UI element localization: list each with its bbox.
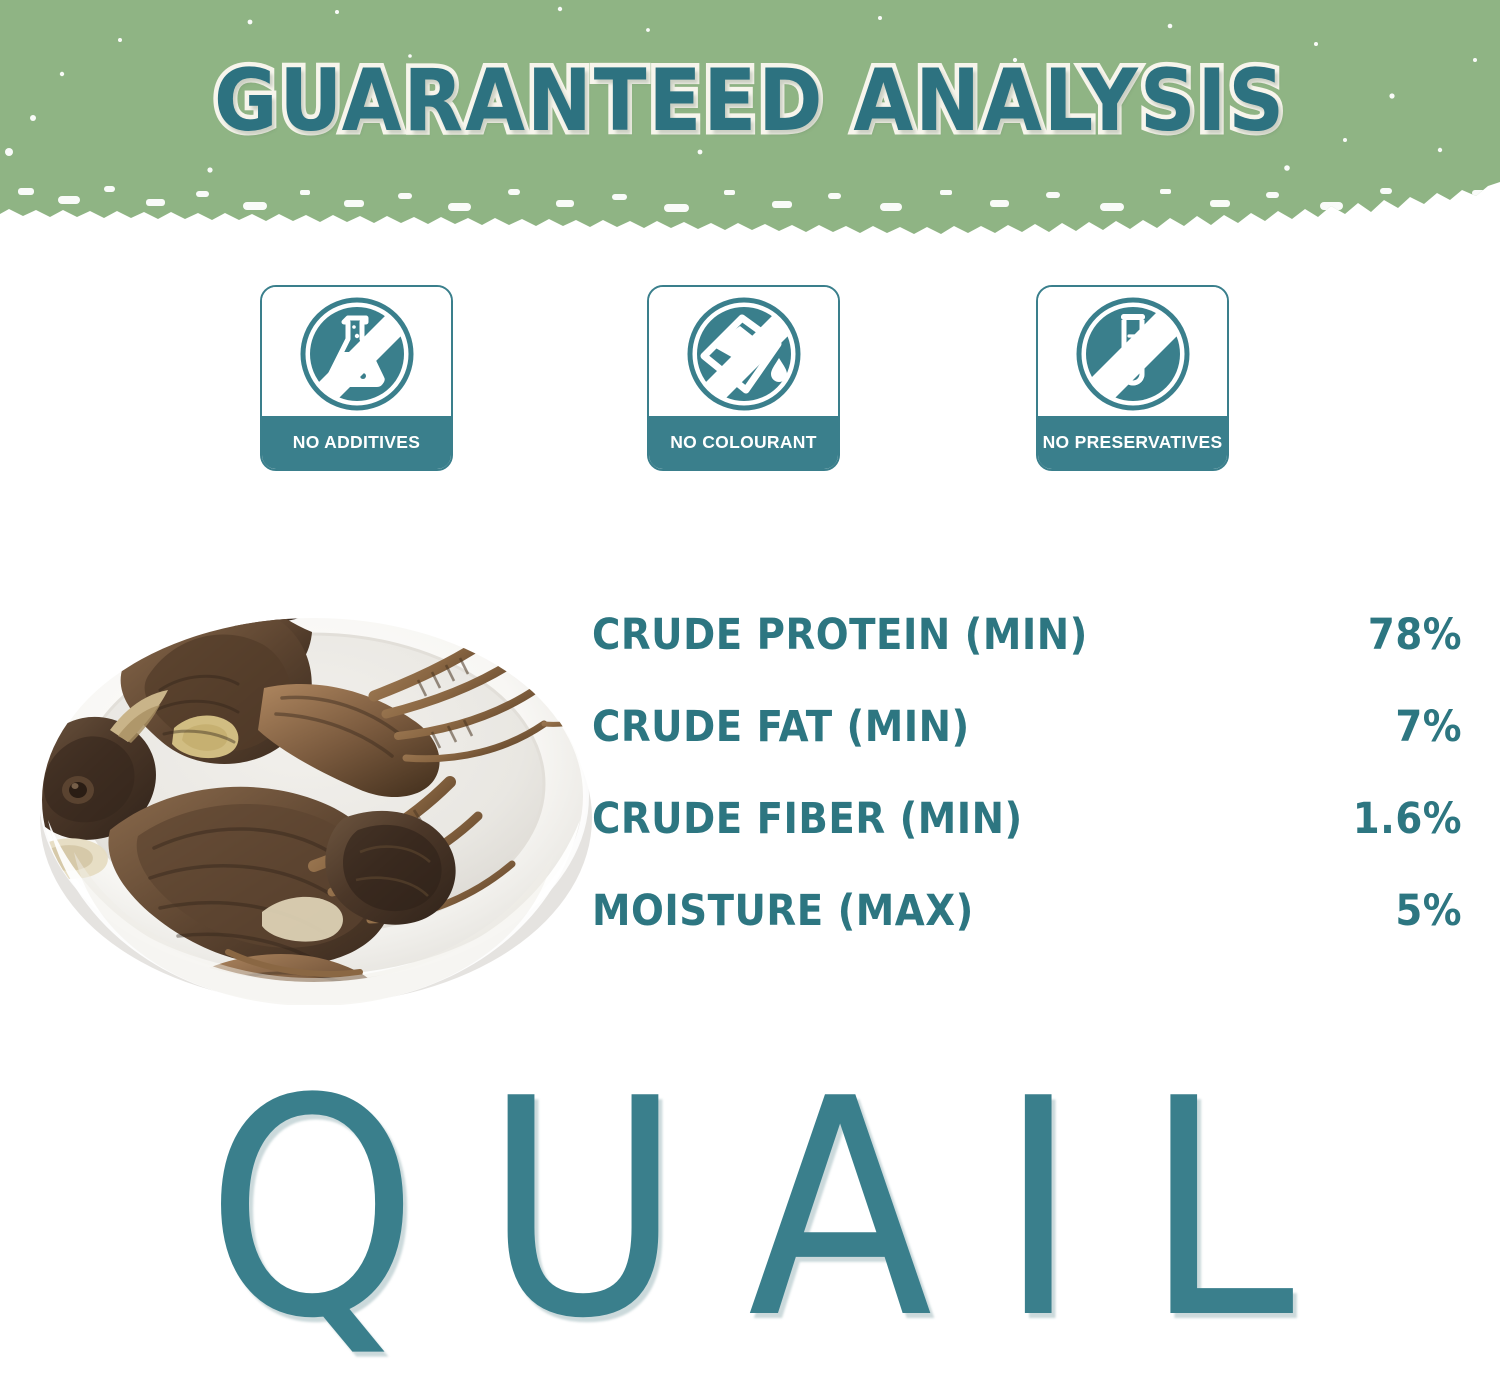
header-band: GUARANTEED ANALYSIS <box>0 0 1500 236</box>
analysis-row: CRUDE FAT (MIN) 7% <box>592 702 1462 794</box>
analysis-value: 1.6% <box>1353 794 1462 844</box>
analysis-label: MOISTURE (MAX) <box>592 886 974 936</box>
analysis-label: CRUDE PROTEIN (MIN) <box>592 610 1088 660</box>
badge-icon-area <box>262 287 451 420</box>
no-preservatives-test-tube-icon <box>1071 292 1195 416</box>
page-title: GUARANTEED ANALYSIS <box>0 58 1500 144</box>
analysis-row: CRUDE FIBER (MIN) 1.6% <box>592 794 1462 886</box>
badge-label-bar: NO ADDITIVES <box>262 416 451 469</box>
badge-label: NO COLOURANT <box>670 432 817 453</box>
badge-no-additives: NO ADDITIVES <box>260 285 453 471</box>
product-photo-dried-quail-in-bowl <box>14 500 614 1005</box>
no-additives-flask-icon <box>295 292 419 416</box>
product-name-wordmark: QUAIL <box>0 1070 1500 1350</box>
badge-no-colourant: NO COLOURANT <box>647 285 840 471</box>
badge-no-preservatives: NO PRESERVATIVES <box>1036 285 1229 471</box>
no-colourant-paint-icon <box>682 292 806 416</box>
analysis-value: 5% <box>1395 886 1462 936</box>
badge-icon-area <box>649 287 838 420</box>
analysis-label: CRUDE FIBER (MIN) <box>592 794 1023 844</box>
analysis-row: CRUDE PROTEIN (MIN) 78% <box>592 610 1462 702</box>
badge-label: NO ADDITIVES <box>293 432 420 453</box>
badge-label-bar: NO PRESERVATIVES <box>1038 416 1227 469</box>
analysis-row: MOISTURE (MAX) 5% <box>592 886 1462 978</box>
badge-icon-area <box>1038 287 1227 420</box>
badge-label: NO PRESERVATIVES <box>1043 432 1223 453</box>
analysis-label: CRUDE FAT (MIN) <box>592 702 970 752</box>
badge-label-bar: NO COLOURANT <box>649 416 838 469</box>
guaranteed-analysis-table: CRUDE PROTEIN (MIN) 78% CRUDE FAT (MIN) … <box>592 610 1462 978</box>
analysis-value: 78% <box>1368 610 1462 660</box>
analysis-value: 7% <box>1395 702 1462 752</box>
